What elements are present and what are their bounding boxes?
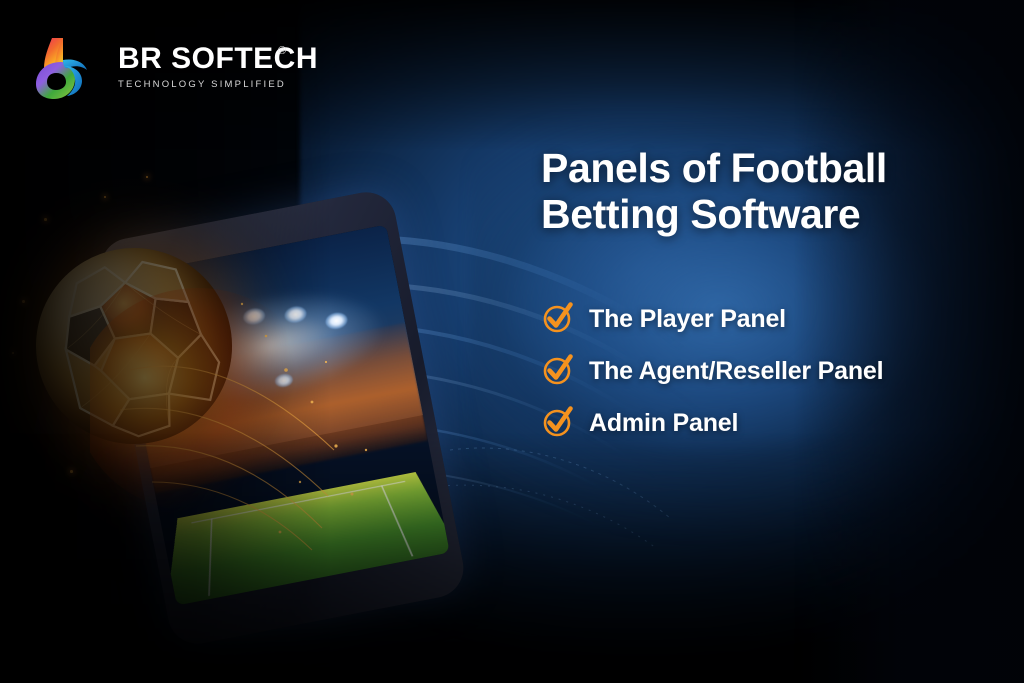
brand-tagline: TECHNOLOGY SIMPLIFIED (118, 79, 318, 90)
check-circle-icon (541, 352, 575, 386)
brand-name: BR SOFTECH (118, 44, 318, 74)
headline-line-2: Betting Software (541, 191, 860, 237)
list-item-label: The Player Panel (589, 305, 786, 334)
list-item: Admin Panel (541, 397, 1011, 449)
list-item-label: Admin Panel (589, 409, 738, 438)
brand-wordmark: BR SOFTECH ® TECHNOLOGY SIMPLIFIED (118, 44, 318, 90)
feature-list: The Player Panel The Agent/Reseller Pane… (541, 293, 1011, 449)
headline-line-1: Panels of Football (541, 145, 887, 191)
promo-banner: BR SOFTECH ® TECHNOLOGY SIMPLIFIED Panel… (0, 0, 1024, 683)
check-circle-icon (541, 300, 575, 334)
list-item: The Player Panel (541, 293, 1011, 345)
registered-trademark-icon: ® (278, 45, 286, 57)
brand-logo[interactable]: BR SOFTECH ® TECHNOLOGY SIMPLIFIED (30, 36, 270, 104)
check-circle-icon (541, 404, 575, 438)
list-item-label: The Agent/Reseller Panel (589, 357, 883, 386)
brsoftech-b-mark-icon (30, 36, 92, 100)
list-item: The Agent/Reseller Panel (541, 345, 1011, 397)
hero-content: Panels of Football Betting Software The … (541, 146, 1011, 238)
page-title: Panels of Football Betting Software (541, 146, 1011, 238)
